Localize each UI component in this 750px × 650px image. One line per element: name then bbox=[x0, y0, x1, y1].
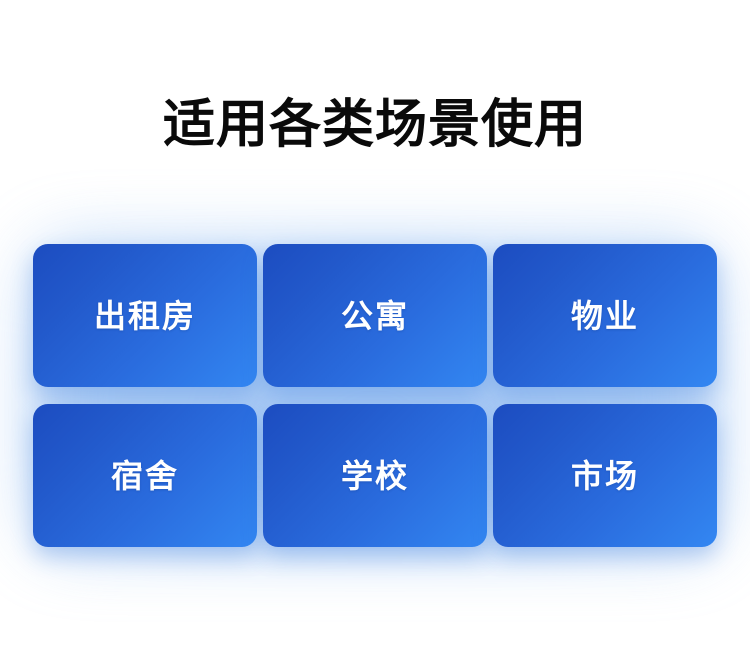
scene-card-label: 学校 bbox=[341, 460, 409, 492]
scene-card-market[interactable]: 市场 bbox=[493, 404, 717, 547]
scene-card-apartment[interactable]: 公寓 bbox=[263, 244, 487, 387]
scene-card-property-management[interactable]: 物业 bbox=[493, 244, 717, 387]
scene-card-label: 宿舍 bbox=[111, 460, 179, 492]
scene-card-grid: 出租房 公寓 物业 宿舍 学校 市场 bbox=[33, 244, 717, 547]
scene-card-label: 物业 bbox=[571, 300, 639, 332]
scene-card-label: 市场 bbox=[571, 460, 639, 492]
scene-card-label: 出租房 bbox=[94, 300, 196, 332]
scene-card-school[interactable]: 学校 bbox=[263, 404, 487, 547]
scene-card-rental-room[interactable]: 出租房 bbox=[33, 244, 257, 387]
scene-card-label: 公寓 bbox=[341, 300, 409, 332]
page-title: 适用各类场景使用 bbox=[0, 96, 750, 154]
scene-showcase-panel: 适用各类场景使用 出租房 公寓 物业 宿舍 学校 市场 bbox=[0, 0, 750, 650]
scene-card-dormitory[interactable]: 宿舍 bbox=[33, 404, 257, 547]
